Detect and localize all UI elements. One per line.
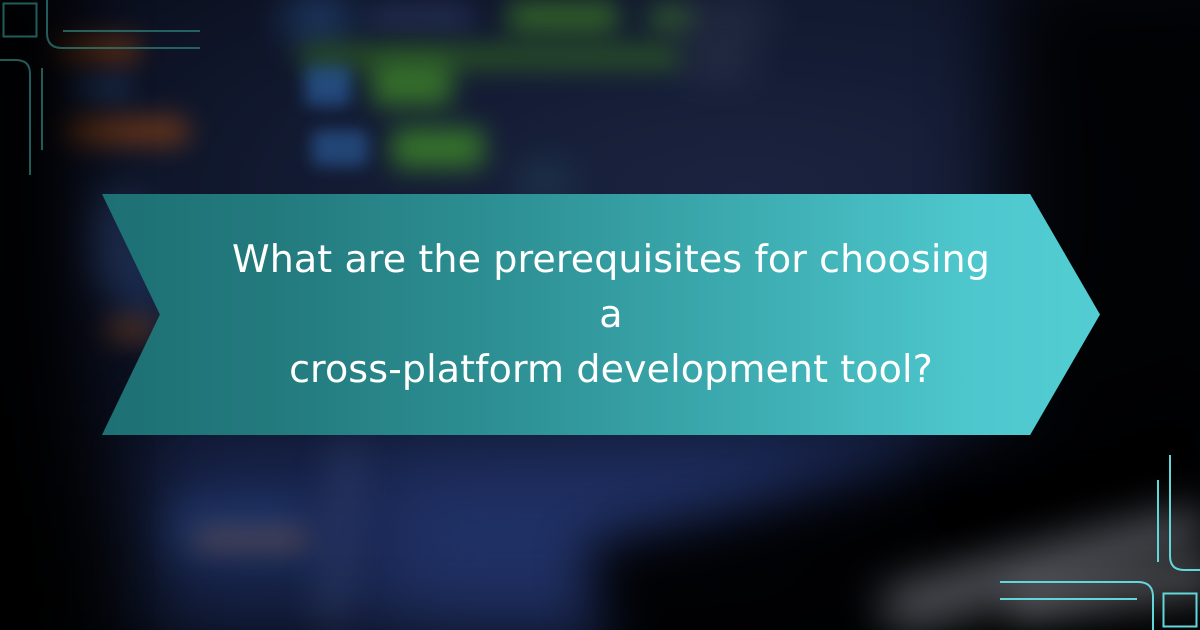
code-blob-blue-6 — [305, 66, 351, 106]
code-blob-green-4 — [372, 62, 452, 106]
code-blob-green-5 — [392, 128, 484, 168]
code-blob-blue-5 — [368, 6, 472, 28]
question-line-2: cross-platform development tool? — [231, 342, 991, 397]
laptop-edge-highlight — [880, 500, 1200, 630]
code-blob-blue-7 — [312, 130, 368, 166]
circuit-corner-top-left-icon — [0, 0, 200, 175]
code-blob-teal-1 — [520, 170, 570, 194]
laptop-body-shadow — [583, 401, 1200, 630]
screen-glow-lower-2 — [380, 470, 800, 620]
code-blob-orange-2 — [62, 118, 188, 144]
code-blob-orange-3 — [104, 318, 156, 340]
code-blob-blue-1 — [68, 78, 130, 98]
laptop-edge-highlight-2 — [1009, 561, 1200, 624]
left-vignette — [0, 0, 80, 630]
code-blob-orange-4 — [196, 530, 306, 548]
question-banner: What are the prerequisites for choosing … — [102, 194, 1100, 435]
code-blob-green-2 — [648, 6, 692, 30]
question-line-1: What are the prerequisites for choosing … — [231, 232, 991, 342]
code-blob-grey-2 — [684, 52, 754, 74]
code-blob-blue-4 — [288, 2, 350, 36]
social-card: What are the prerequisites for choosing … — [0, 0, 1200, 630]
code-blob-grey-1 — [680, 4, 770, 32]
circuit-corner-bottom-right-icon — [1000, 455, 1200, 630]
code-blob-green-1 — [508, 2, 618, 32]
screen-edge-streak — [320, 440, 358, 630]
code-blob-orange-1 — [52, 38, 138, 62]
screen-glow-lower — [150, 430, 910, 630]
code-blob-blue-8 — [170, 500, 310, 560]
code-blob-green-3 — [300, 46, 680, 68]
question-text: What are the prerequisites for choosing … — [231, 232, 991, 397]
